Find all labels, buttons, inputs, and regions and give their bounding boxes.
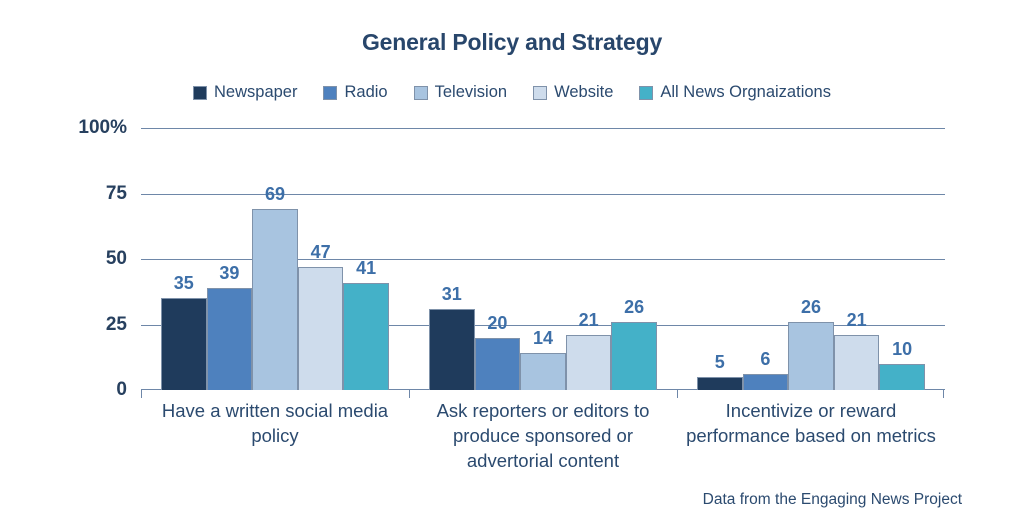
- bar[interactable]: [611, 322, 657, 390]
- bar-value-label: 21: [847, 310, 867, 331]
- bar[interactable]: [879, 364, 925, 390]
- legend-swatch-icon: [193, 86, 207, 100]
- x-axis-tick: [409, 389, 410, 398]
- bar-group: 56262110: [697, 128, 925, 390]
- bar-value-label: 14: [533, 328, 553, 349]
- plot-area: 3539694741312014212656262110: [141, 128, 945, 390]
- bar-slot: 5: [697, 128, 743, 390]
- bar-group-bars: 3120142126: [429, 128, 657, 390]
- y-axis-tick-label: 50: [106, 248, 127, 270]
- bar-slot: 26: [788, 128, 834, 390]
- x-axis-category-labels: Have a written social mediapolicyAsk rep…: [141, 398, 945, 478]
- bar-value-label: 20: [487, 313, 507, 334]
- bar-slot: 20: [475, 128, 521, 390]
- legend-label: Television: [435, 83, 507, 102]
- bar-slot: 35: [161, 128, 207, 390]
- bar-group: 3539694741: [161, 128, 389, 390]
- bar[interactable]: [343, 283, 389, 390]
- legend-swatch-icon: [639, 86, 653, 100]
- x-axis-category-label: Have a written social mediapolicy: [123, 398, 427, 448]
- x-axis-category-label-line: policy: [123, 423, 427, 448]
- legend-item[interactable]: All News Orgnaizations: [639, 83, 831, 102]
- legend-label: Newspaper: [214, 83, 297, 102]
- bar-slot: 26: [611, 128, 657, 390]
- bar-slot: 69: [252, 128, 298, 390]
- legend-item[interactable]: Website: [533, 83, 613, 102]
- legend-swatch-icon: [414, 86, 428, 100]
- legend-swatch-icon: [533, 86, 547, 100]
- y-axis-tick-label: 75: [106, 183, 127, 205]
- legend-item[interactable]: Newspaper: [193, 83, 297, 102]
- bar-value-label: 26: [801, 297, 821, 318]
- bar[interactable]: [475, 338, 521, 390]
- bar[interactable]: [207, 288, 253, 390]
- bar-slot: 47: [298, 128, 344, 390]
- bar-group-bars: 3539694741: [161, 128, 389, 390]
- chart-legend: NewspaperRadioTelevisionWebsiteAll News …: [0, 83, 1024, 102]
- x-axis-category-label-line: Incentivize or reward: [659, 398, 963, 423]
- bar-value-label: 39: [219, 263, 239, 284]
- legend-swatch-icon: [323, 86, 337, 100]
- bar-slot: 21: [834, 128, 880, 390]
- bar[interactable]: [697, 377, 743, 390]
- x-axis-category-label: Ask reporters or editors toproduce spons…: [391, 398, 695, 473]
- legend-label: All News Orgnaizations: [660, 83, 831, 102]
- bar[interactable]: [566, 335, 612, 390]
- bar-value-label: 6: [760, 349, 770, 370]
- bar[interactable]: [161, 298, 207, 390]
- bar-slot: 14: [520, 128, 566, 390]
- x-axis-category-label-line: Have a written social media: [123, 398, 427, 423]
- bar-value-label: 21: [579, 310, 599, 331]
- bar-slot: 10: [879, 128, 925, 390]
- bar-value-label: 5: [715, 352, 725, 373]
- bar-slot: 39: [207, 128, 253, 390]
- y-axis-tick-label: 25: [106, 314, 127, 336]
- bar[interactable]: [252, 209, 298, 390]
- bar-value-label: 69: [265, 184, 285, 205]
- bar[interactable]: [520, 353, 566, 390]
- y-axis-tick-label: 100%: [78, 117, 127, 139]
- bar-value-label: 35: [174, 273, 194, 294]
- bar-value-label: 31: [442, 284, 462, 305]
- bar-slot: 21: [566, 128, 612, 390]
- source-note: Data from the Engaging News Project: [703, 491, 962, 509]
- bar-slot: 41: [343, 128, 389, 390]
- bar[interactable]: [298, 267, 344, 390]
- bar[interactable]: [834, 335, 880, 390]
- bar[interactable]: [788, 322, 834, 390]
- x-axis-category-label-line: performance based on metrics: [659, 423, 963, 448]
- legend-label: Radio: [344, 83, 387, 102]
- legend-label: Website: [554, 83, 613, 102]
- bar[interactable]: [743, 374, 789, 390]
- x-axis-category-label: Incentivize or rewardperformance based o…: [659, 398, 963, 448]
- bar-slot: 31: [429, 128, 475, 390]
- bar-value-label: 10: [892, 339, 912, 360]
- x-axis-category-label-line: produce sponsored or: [391, 423, 695, 448]
- legend-item[interactable]: Television: [414, 83, 507, 102]
- y-axis-labels: 0255075100%: [0, 128, 141, 390]
- bar-group-bars: 56262110: [697, 128, 925, 390]
- bar-value-label: 41: [356, 258, 376, 279]
- legend-item[interactable]: Radio: [323, 83, 387, 102]
- bar-group: 3120142126: [429, 128, 657, 390]
- bar[interactable]: [429, 309, 475, 390]
- x-axis-tick: [141, 389, 142, 398]
- x-axis-tick: [943, 389, 944, 398]
- x-axis-tick: [677, 389, 678, 398]
- x-axis-category-label-line: advertorial content: [391, 448, 695, 473]
- bar-value-label: 47: [311, 242, 331, 263]
- bar-value-label: 26: [624, 297, 644, 318]
- x-axis-category-label-line: Ask reporters or editors to: [391, 398, 695, 423]
- bar-slot: 6: [743, 128, 789, 390]
- chart-canvas: General Policy and Strategy NewspaperRad…: [0, 0, 1024, 523]
- chart-title: General Policy and Strategy: [0, 29, 1024, 56]
